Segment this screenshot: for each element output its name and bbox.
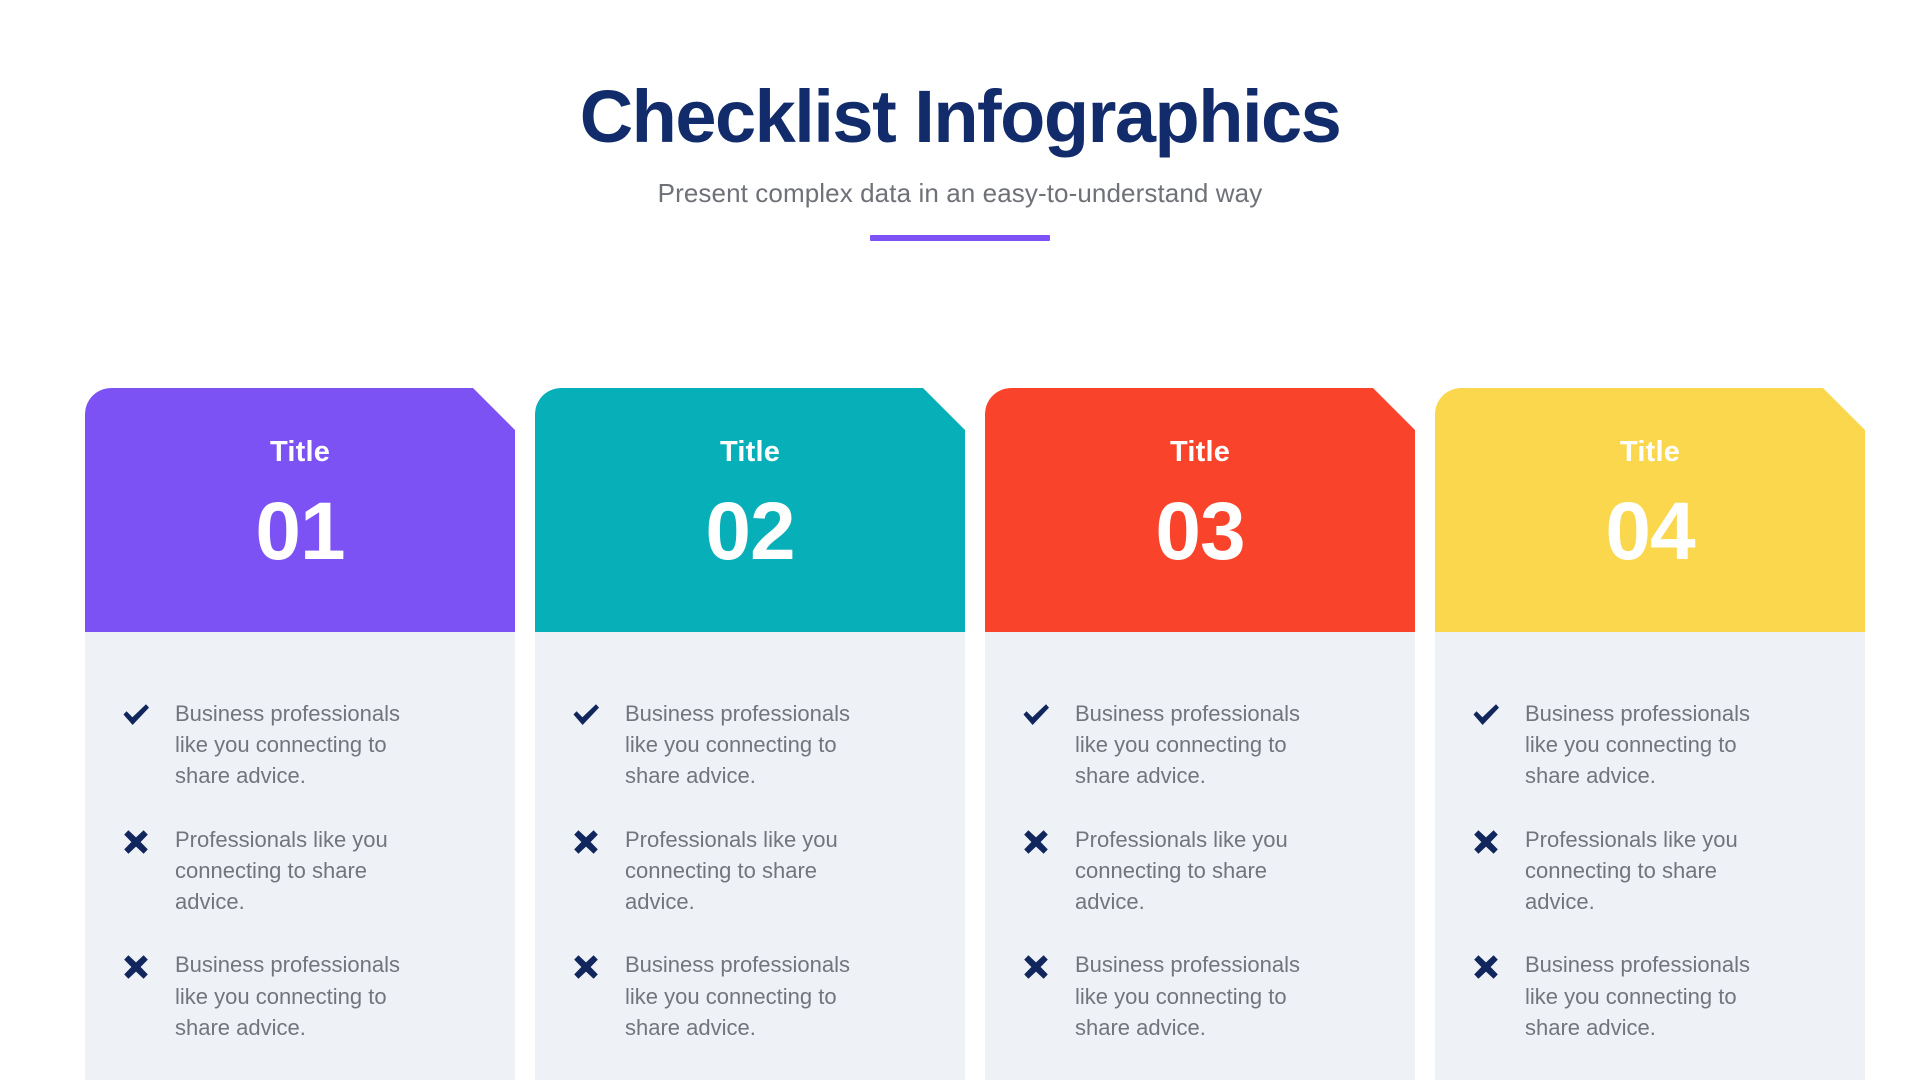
cross-icon — [119, 953, 153, 983]
slide-header: Checklist Infographics Present complex d… — [0, 0, 1920, 241]
card-title: Title — [1620, 436, 1680, 469]
list-item-label: Business professionals like you connecti… — [1075, 949, 1323, 1043]
list-item: Business professionals like you connecti… — [1019, 698, 1381, 792]
cross-icon — [569, 953, 603, 983]
divider-wrapper — [0, 235, 1920, 241]
page-subtitle: Present complex data in an easy-to-under… — [0, 178, 1920, 209]
list-item-label: Business professionals like you connecti… — [1525, 949, 1773, 1043]
card-header: Title01 — [85, 388, 515, 632]
card-number: 02 — [705, 491, 794, 573]
slide-root: Checklist Infographics Present complex d… — [0, 0, 1920, 1080]
card-body: Business professionals like you connecti… — [85, 632, 515, 1080]
checklist-card: Title01Business professionals like you c… — [85, 388, 515, 1080]
check-icon — [119, 702, 153, 732]
list-item-label: Business professionals like you connecti… — [1075, 698, 1323, 792]
list-item-label: Business professionals like you connecti… — [1525, 698, 1773, 792]
card-body: Business professionals like you connecti… — [985, 632, 1415, 1080]
cross-icon — [569, 828, 603, 858]
card-header: Title02 — [535, 388, 965, 632]
list-item: Professionals like you connecting to sha… — [1019, 824, 1381, 918]
page-title: Checklist Infographics — [0, 78, 1920, 156]
card-title: Title — [1170, 436, 1230, 469]
checklist-card: Title02Business professionals like you c… — [535, 388, 965, 1080]
cross-icon — [1469, 828, 1503, 858]
list-item: Business professionals like you connecti… — [1469, 698, 1831, 792]
cross-icon — [1469, 953, 1503, 983]
card-body: Business professionals like you connecti… — [1435, 632, 1865, 1080]
list-item-label: Business professionals like you connecti… — [625, 949, 873, 1043]
list-item: Business professionals like you connecti… — [1019, 949, 1381, 1043]
card-number: 04 — [1605, 491, 1694, 573]
card-header: Title04 — [1435, 388, 1865, 632]
cross-icon — [119, 828, 153, 858]
list-item: Business professionals like you connecti… — [119, 949, 481, 1043]
card-number: 01 — [255, 491, 344, 573]
list-item-label: Professionals like you connecting to sha… — [1075, 824, 1323, 918]
cross-icon — [1019, 828, 1053, 858]
list-item-label: Business professionals like you connecti… — [175, 698, 423, 792]
list-item-label: Business professionals like you connecti… — [625, 698, 873, 792]
list-item: Professionals like you connecting to sha… — [569, 824, 931, 918]
check-icon — [1019, 702, 1053, 732]
list-item-label: Professionals like you connecting to sha… — [625, 824, 873, 918]
card-title: Title — [720, 436, 780, 469]
list-item-label: Professionals like you connecting to sha… — [1525, 824, 1773, 918]
check-icon — [569, 702, 603, 732]
cards-row: Title01Business professionals like you c… — [85, 388, 1867, 1080]
card-title: Title — [270, 436, 330, 469]
list-item: Business professionals like you connecti… — [119, 698, 481, 792]
list-item-label: Professionals like you connecting to sha… — [175, 824, 423, 918]
card-header: Title03 — [985, 388, 1415, 632]
list-item: Business professionals like you connecti… — [1469, 949, 1831, 1043]
list-item: Business professionals like you connecti… — [569, 949, 931, 1043]
check-icon — [1469, 702, 1503, 732]
list-item: Professionals like you connecting to sha… — [1469, 824, 1831, 918]
checklist-card: Title04Business professionals like you c… — [1435, 388, 1865, 1080]
card-number: 03 — [1155, 491, 1244, 573]
list-item-label: Business professionals like you connecti… — [175, 949, 423, 1043]
accent-divider — [870, 235, 1050, 241]
checklist-card: Title03Business professionals like you c… — [985, 388, 1415, 1080]
list-item: Business professionals like you connecti… — [569, 698, 931, 792]
cross-icon — [1019, 953, 1053, 983]
list-item: Professionals like you connecting to sha… — [119, 824, 481, 918]
card-body: Business professionals like you connecti… — [535, 632, 965, 1080]
